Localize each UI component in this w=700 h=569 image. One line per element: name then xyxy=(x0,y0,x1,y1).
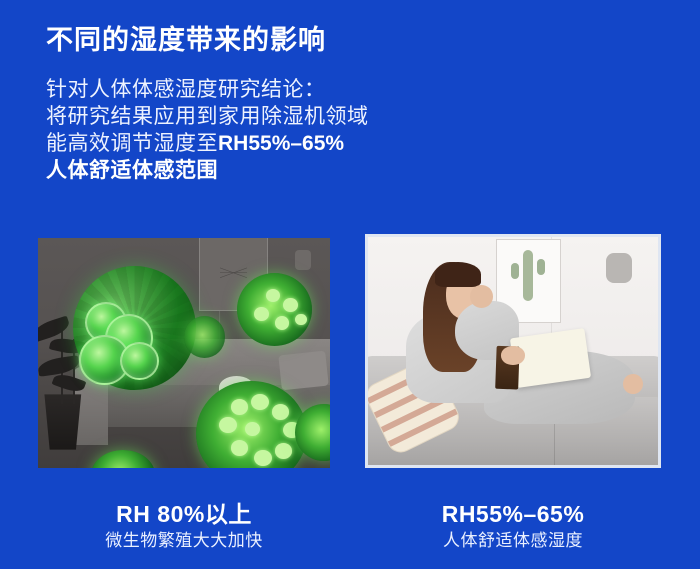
description-line-3-prefix: 能高效调节湿度至 xyxy=(46,132,218,155)
left-sofa-cushion xyxy=(279,351,329,390)
woman-hand-lower xyxy=(501,346,524,364)
microbe-sphere-small xyxy=(237,273,313,347)
microbe-spike xyxy=(275,316,290,330)
microbe-spike xyxy=(254,450,272,466)
caption-left-subtitle: 微生物繁殖大大加快 xyxy=(38,528,330,554)
microbe-cell xyxy=(120,342,159,381)
caption-left-title: RH 80%以上 xyxy=(38,500,330,528)
page-title: 不同的湿度带来的影响 xyxy=(46,18,326,57)
microbe-spike xyxy=(245,422,260,436)
promo-slide: 不同的湿度带来的影响 针对人体体感湿度研究结论： 将研究结果应用到家用除湿机领域… xyxy=(0,0,700,569)
caption-right-title: RH55%–65% xyxy=(365,500,661,528)
description-line-2: 将研究结果应用到家用除湿机领域 xyxy=(46,103,369,130)
caption-comfort-humidity: RH55%–65% 人体舒适体感湿度 xyxy=(365,500,661,554)
cactus-artwork xyxy=(523,250,533,301)
left-wall-fixture xyxy=(295,250,311,270)
microbe-spike xyxy=(219,417,237,433)
description-block: 针对人体体感湿度研究结论： 将研究结果应用到家用除湿机领域 能高效调节湿度至RH… xyxy=(46,76,369,184)
photo-comfort-humidity xyxy=(365,234,661,468)
humidity-range-highlight: RH55%–65% xyxy=(218,132,344,155)
description-line-3: 能高效调节湿度至RH55%–65% xyxy=(46,130,369,157)
microbe-spike xyxy=(254,307,269,321)
description-line-4: 人体舒适体感范围 xyxy=(46,157,369,184)
microbe-spike xyxy=(275,443,293,459)
caption-high-humidity: RH 80%以上 微生物繁殖大大加快 xyxy=(38,500,330,554)
caption-right-subtitle: 人体舒适体感湿度 xyxy=(365,528,661,554)
microbe-spike xyxy=(295,314,307,326)
woman-hand-upper xyxy=(470,285,493,308)
microbe-spike xyxy=(283,298,298,312)
microbe-sphere-partial xyxy=(184,316,225,357)
description-line-1: 针对人体体感湿度研究结论： xyxy=(46,76,369,103)
right-wall-fixture xyxy=(606,253,632,283)
microbe-spike xyxy=(272,404,290,420)
photo-high-humidity xyxy=(38,238,330,468)
woman-hair-top xyxy=(435,262,481,287)
